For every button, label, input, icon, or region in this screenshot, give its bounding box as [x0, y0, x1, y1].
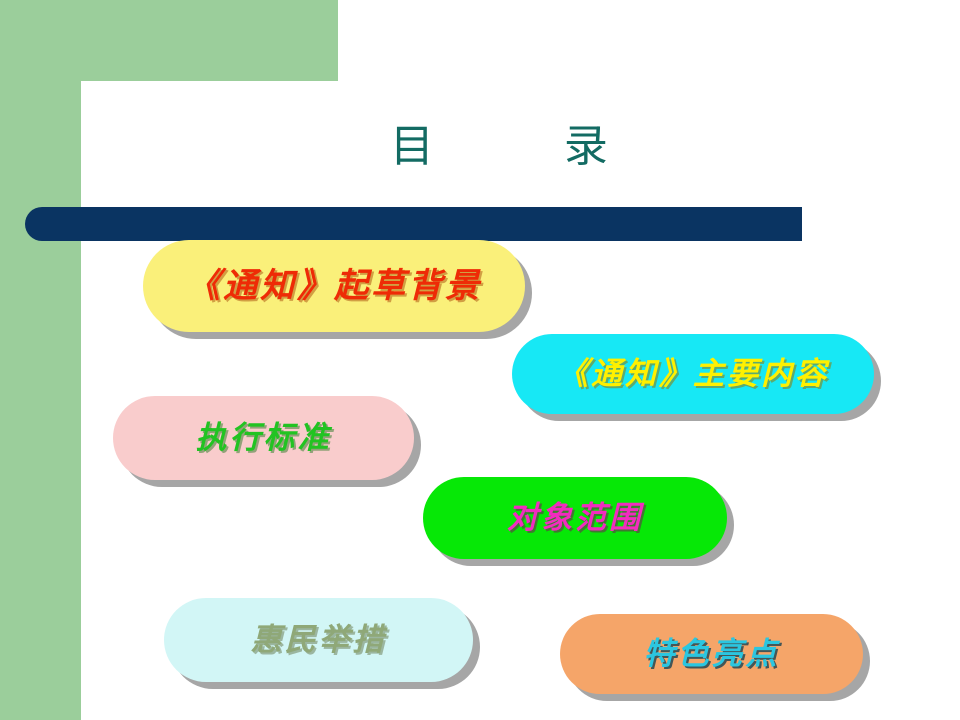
toc-item-label: 对象范围 [507, 503, 643, 534]
toc-item-drafting-background[interactable]: 《通知》起草背景 [143, 240, 525, 332]
decor-green-sidebar [0, 0, 81, 720]
toc-item-label: 惠民举措 [251, 625, 387, 656]
toc-item-featured-highlights[interactable]: 特色亮点 [560, 614, 863, 694]
toc-item-label: 特色亮点 [644, 639, 780, 670]
page-title: 目 录 [280, 125, 720, 169]
toc-item-public-benefit-measures[interactable]: 惠民举措 [164, 598, 473, 682]
toc-item-label: 《通知》主要内容 [557, 359, 829, 390]
slide-canvas: 目 录 《通知》起草背景 《通知》主要内容 执行标准 对象范围 惠民举措 特色亮… [0, 0, 960, 720]
toc-item-main-contents[interactable]: 《通知》主要内容 [512, 334, 874, 414]
toc-item-execution-standards[interactable]: 执行标准 [113, 396, 414, 480]
toc-item-label: 执行标准 [196, 423, 332, 454]
toc-item-target-scope[interactable]: 对象范围 [423, 477, 727, 559]
toc-item-label: 《通知》起草背景 [186, 269, 482, 303]
navy-divider-bar [25, 207, 802, 241]
